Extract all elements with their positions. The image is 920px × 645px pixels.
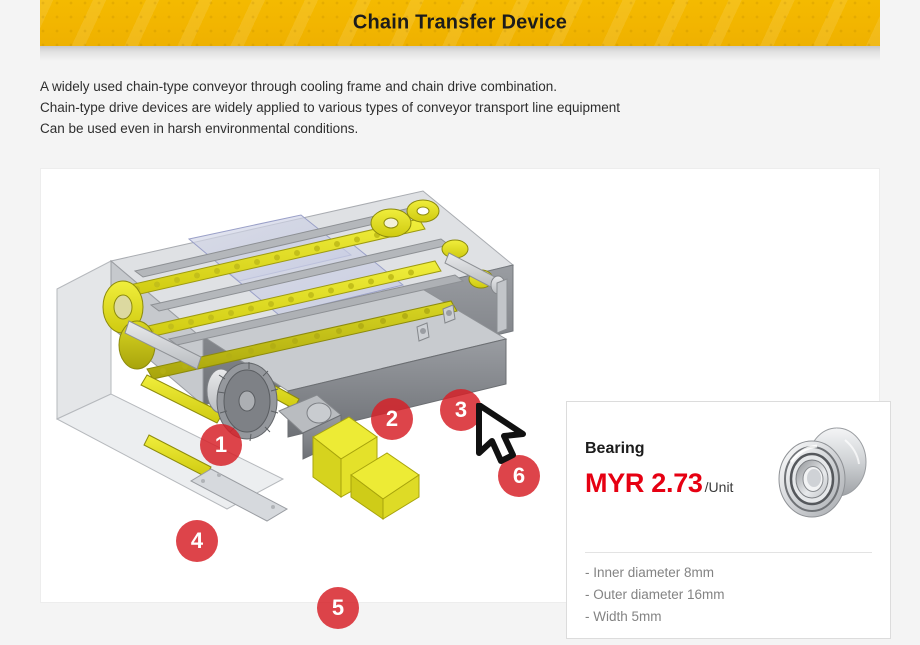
- description-line-2: Chain-type drive devices are widely appl…: [40, 97, 860, 118]
- diagram-marker-2[interactable]: 2: [371, 398, 413, 440]
- description-line-1: A widely used chain-type conveyor throug…: [40, 76, 860, 97]
- product-description: A widely used chain-type conveyor throug…: [40, 76, 860, 139]
- page-header-banner: Chain Transfer Device: [40, 0, 880, 46]
- part-title: Bearing: [585, 440, 645, 458]
- part-price: MYR 2.73: [585, 468, 703, 499]
- card-divider: [585, 552, 872, 553]
- description-line-3: Can be used even in harsh environmental …: [40, 118, 860, 139]
- part-spec-list: - Inner diameter 8mm - Outer diameter 16…: [585, 562, 725, 628]
- spec-outer-diameter: - Outer diameter 16mm: [585, 584, 725, 606]
- spec-inner-diameter: - Inner diameter 8mm: [585, 562, 725, 584]
- spec-width: - Width 5mm: [585, 606, 725, 628]
- page-title: Chain Transfer Device: [40, 12, 880, 35]
- diagram-marker-6[interactable]: 6: [498, 455, 540, 497]
- diagram-marker-4[interactable]: 4: [176, 520, 218, 562]
- part-info-card: Bearing MYR 2.73 /Unit: [566, 401, 891, 639]
- chain-conveyor-diagram: [51, 179, 531, 524]
- ball-bearing-photo: [767, 422, 882, 527]
- diagram-marker-1[interactable]: 1: [200, 424, 242, 466]
- banner-shadow: [40, 46, 880, 61]
- main-content-panel: 1 2 3 4 5 6 Bearing MYR 2.73 /Unit: [40, 168, 880, 603]
- diagram-marker-3[interactable]: 3: [440, 389, 482, 431]
- part-price-row: MYR 2.73 /Unit: [585, 468, 733, 499]
- diagram-marker-5[interactable]: 5: [317, 587, 359, 629]
- part-price-unit: /Unit: [705, 479, 734, 495]
